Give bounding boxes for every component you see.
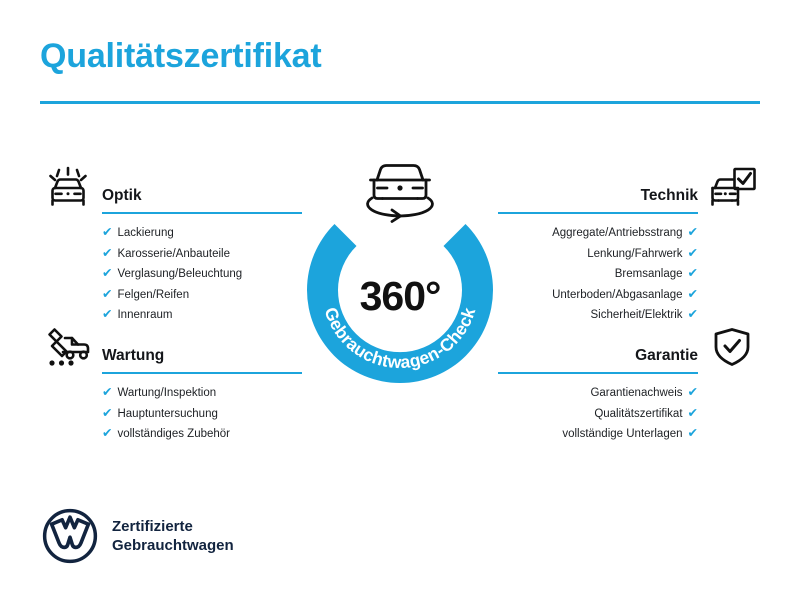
list-item: Bremsanlage✔ <box>552 264 698 285</box>
section-technik-divider <box>498 212 698 214</box>
list-item: ✔Karosserie/Anbauteile <box>102 244 242 265</box>
list-item-label: Wartung/Inspektion <box>117 387 216 399</box>
section-optik-header: Optik <box>40 163 340 211</box>
section-wartung: Wartung ✔Wartung/Inspektion ✔Hauptunters… <box>40 323 340 371</box>
section-garantie: Garantie Garantienachweis✔ Qualitätszert… <box>460 323 760 371</box>
list-item-label: Hauptuntersuchung <box>117 408 217 420</box>
list-item: Garantienachweis✔ <box>562 383 698 404</box>
check-icon: ✔ <box>102 406 112 420</box>
check-icon: ✔ <box>688 406 698 420</box>
section-wartung-title: Wartung <box>102 347 164 365</box>
list-item-label: Aggregate/Antriebsstrang <box>552 227 682 239</box>
car-service-pen-icon <box>40 323 96 371</box>
check-icon: ✔ <box>102 246 112 260</box>
list-item-label: Karosserie/Anbauteile <box>117 248 230 260</box>
check-icon: ✔ <box>688 287 698 301</box>
list-item: Aggregate/Antriebsstrang✔ <box>552 223 698 244</box>
car-shine-icon <box>40 163 96 211</box>
vw-brand-line-2: Gebrauchtwagen <box>112 536 234 555</box>
check-icon: ✔ <box>102 266 112 280</box>
list-item: ✔Hauptuntersuchung <box>102 404 230 425</box>
car-checkbox-icon <box>704 163 760 211</box>
vw-brand-text: Zertifizierte Gebrauchtwagen <box>112 517 234 555</box>
check-icon: ✔ <box>688 246 698 260</box>
list-item-label: Verglasung/Beleuchtung <box>117 268 242 280</box>
list-item: Lenkung/Fahrwerk✔ <box>552 244 698 265</box>
list-item-label: vollständige Unterlagen <box>562 428 682 440</box>
check-icon: ✔ <box>102 287 112 301</box>
check-icon: ✔ <box>688 385 698 399</box>
list-item: ✔Wartung/Inspektion <box>102 383 230 404</box>
list-item-label: vollständiges Zubehör <box>117 428 230 440</box>
section-wartung-list: ✔Wartung/Inspektion ✔Hauptuntersuchung ✔… <box>102 383 230 445</box>
vw-brand-line-1: Zertifizierte <box>112 517 234 536</box>
check-icon: ✔ <box>102 426 112 440</box>
list-item: Unterboden/Abgasanlage✔ <box>552 285 698 306</box>
shield-check-icon <box>704 323 760 371</box>
section-wartung-divider <box>102 372 302 374</box>
list-item: ✔Lackierung <box>102 223 242 244</box>
badge-360-gebrauchtwagen-check: Gebrauchtwagen-Check 360° <box>296 150 504 390</box>
check-icon: ✔ <box>102 307 112 321</box>
check-icon: ✔ <box>688 307 698 321</box>
badge-number: 360° <box>296 273 504 320</box>
section-technik-title: Technik <box>641 187 698 205</box>
section-optik-list: ✔Lackierung ✔Karosserie/Anbauteile ✔Verg… <box>102 223 242 326</box>
check-icon: ✔ <box>102 385 112 399</box>
vw-brand-lockup: Zertifizierte Gebrauchtwagen <box>42 508 234 564</box>
list-item-label: Sicherheit/Elektrik <box>590 309 682 321</box>
section-garantie-title: Garantie <box>635 347 698 365</box>
title-divider <box>40 101 760 104</box>
list-item: ✔Verglasung/Beleuchtung <box>102 264 242 285</box>
list-item-label: Lenkung/Fahrwerk <box>587 248 682 260</box>
check-icon: ✔ <box>688 426 698 440</box>
section-optik-divider <box>102 212 302 214</box>
list-item-label: Innenraum <box>117 309 172 321</box>
list-item-label: Bremsanlage <box>615 268 683 280</box>
list-item-label: Qualitätszertifikat <box>594 408 682 420</box>
section-garantie-divider <box>498 372 698 374</box>
section-technik-list: Aggregate/Antriebsstrang✔ Lenkung/Fahrwe… <box>552 223 698 326</box>
list-item-label: Lackierung <box>117 227 173 239</box>
vw-logo-icon <box>42 508 98 564</box>
section-wartung-header: Wartung <box>40 323 340 371</box>
list-item-label: Garantienachweis <box>590 387 682 399</box>
list-item: ✔vollständiges Zubehör <box>102 424 230 445</box>
check-icon: ✔ <box>688 225 698 239</box>
section-garantie-list: Garantienachweis✔ Qualitätszertifikat✔ v… <box>562 383 698 445</box>
list-item: vollständige Unterlagen✔ <box>562 424 698 445</box>
list-item: Qualitätszertifikat✔ <box>562 404 698 425</box>
list-item-label: Unterboden/Abgasanlage <box>552 289 682 301</box>
check-icon: ✔ <box>102 225 112 239</box>
check-icon: ✔ <box>688 266 698 280</box>
section-optik: Optik ✔Lackierung ✔Karosserie/Anbauteile… <box>40 163 340 211</box>
list-item-label: Felgen/Reifen <box>117 289 189 301</box>
list-item: ✔Felgen/Reifen <box>102 285 242 306</box>
section-technik-header: Technik <box>460 163 760 211</box>
section-garantie-header: Garantie <box>460 323 760 371</box>
section-optik-title: Optik <box>102 187 142 205</box>
section-technik: Technik Aggregate/Antriebsstrang✔ Lenkun… <box>460 163 760 211</box>
page-title: Qualitätszertifikat <box>40 38 322 75</box>
certificate-page: Qualitätszertifikat <box>0 0 800 600</box>
